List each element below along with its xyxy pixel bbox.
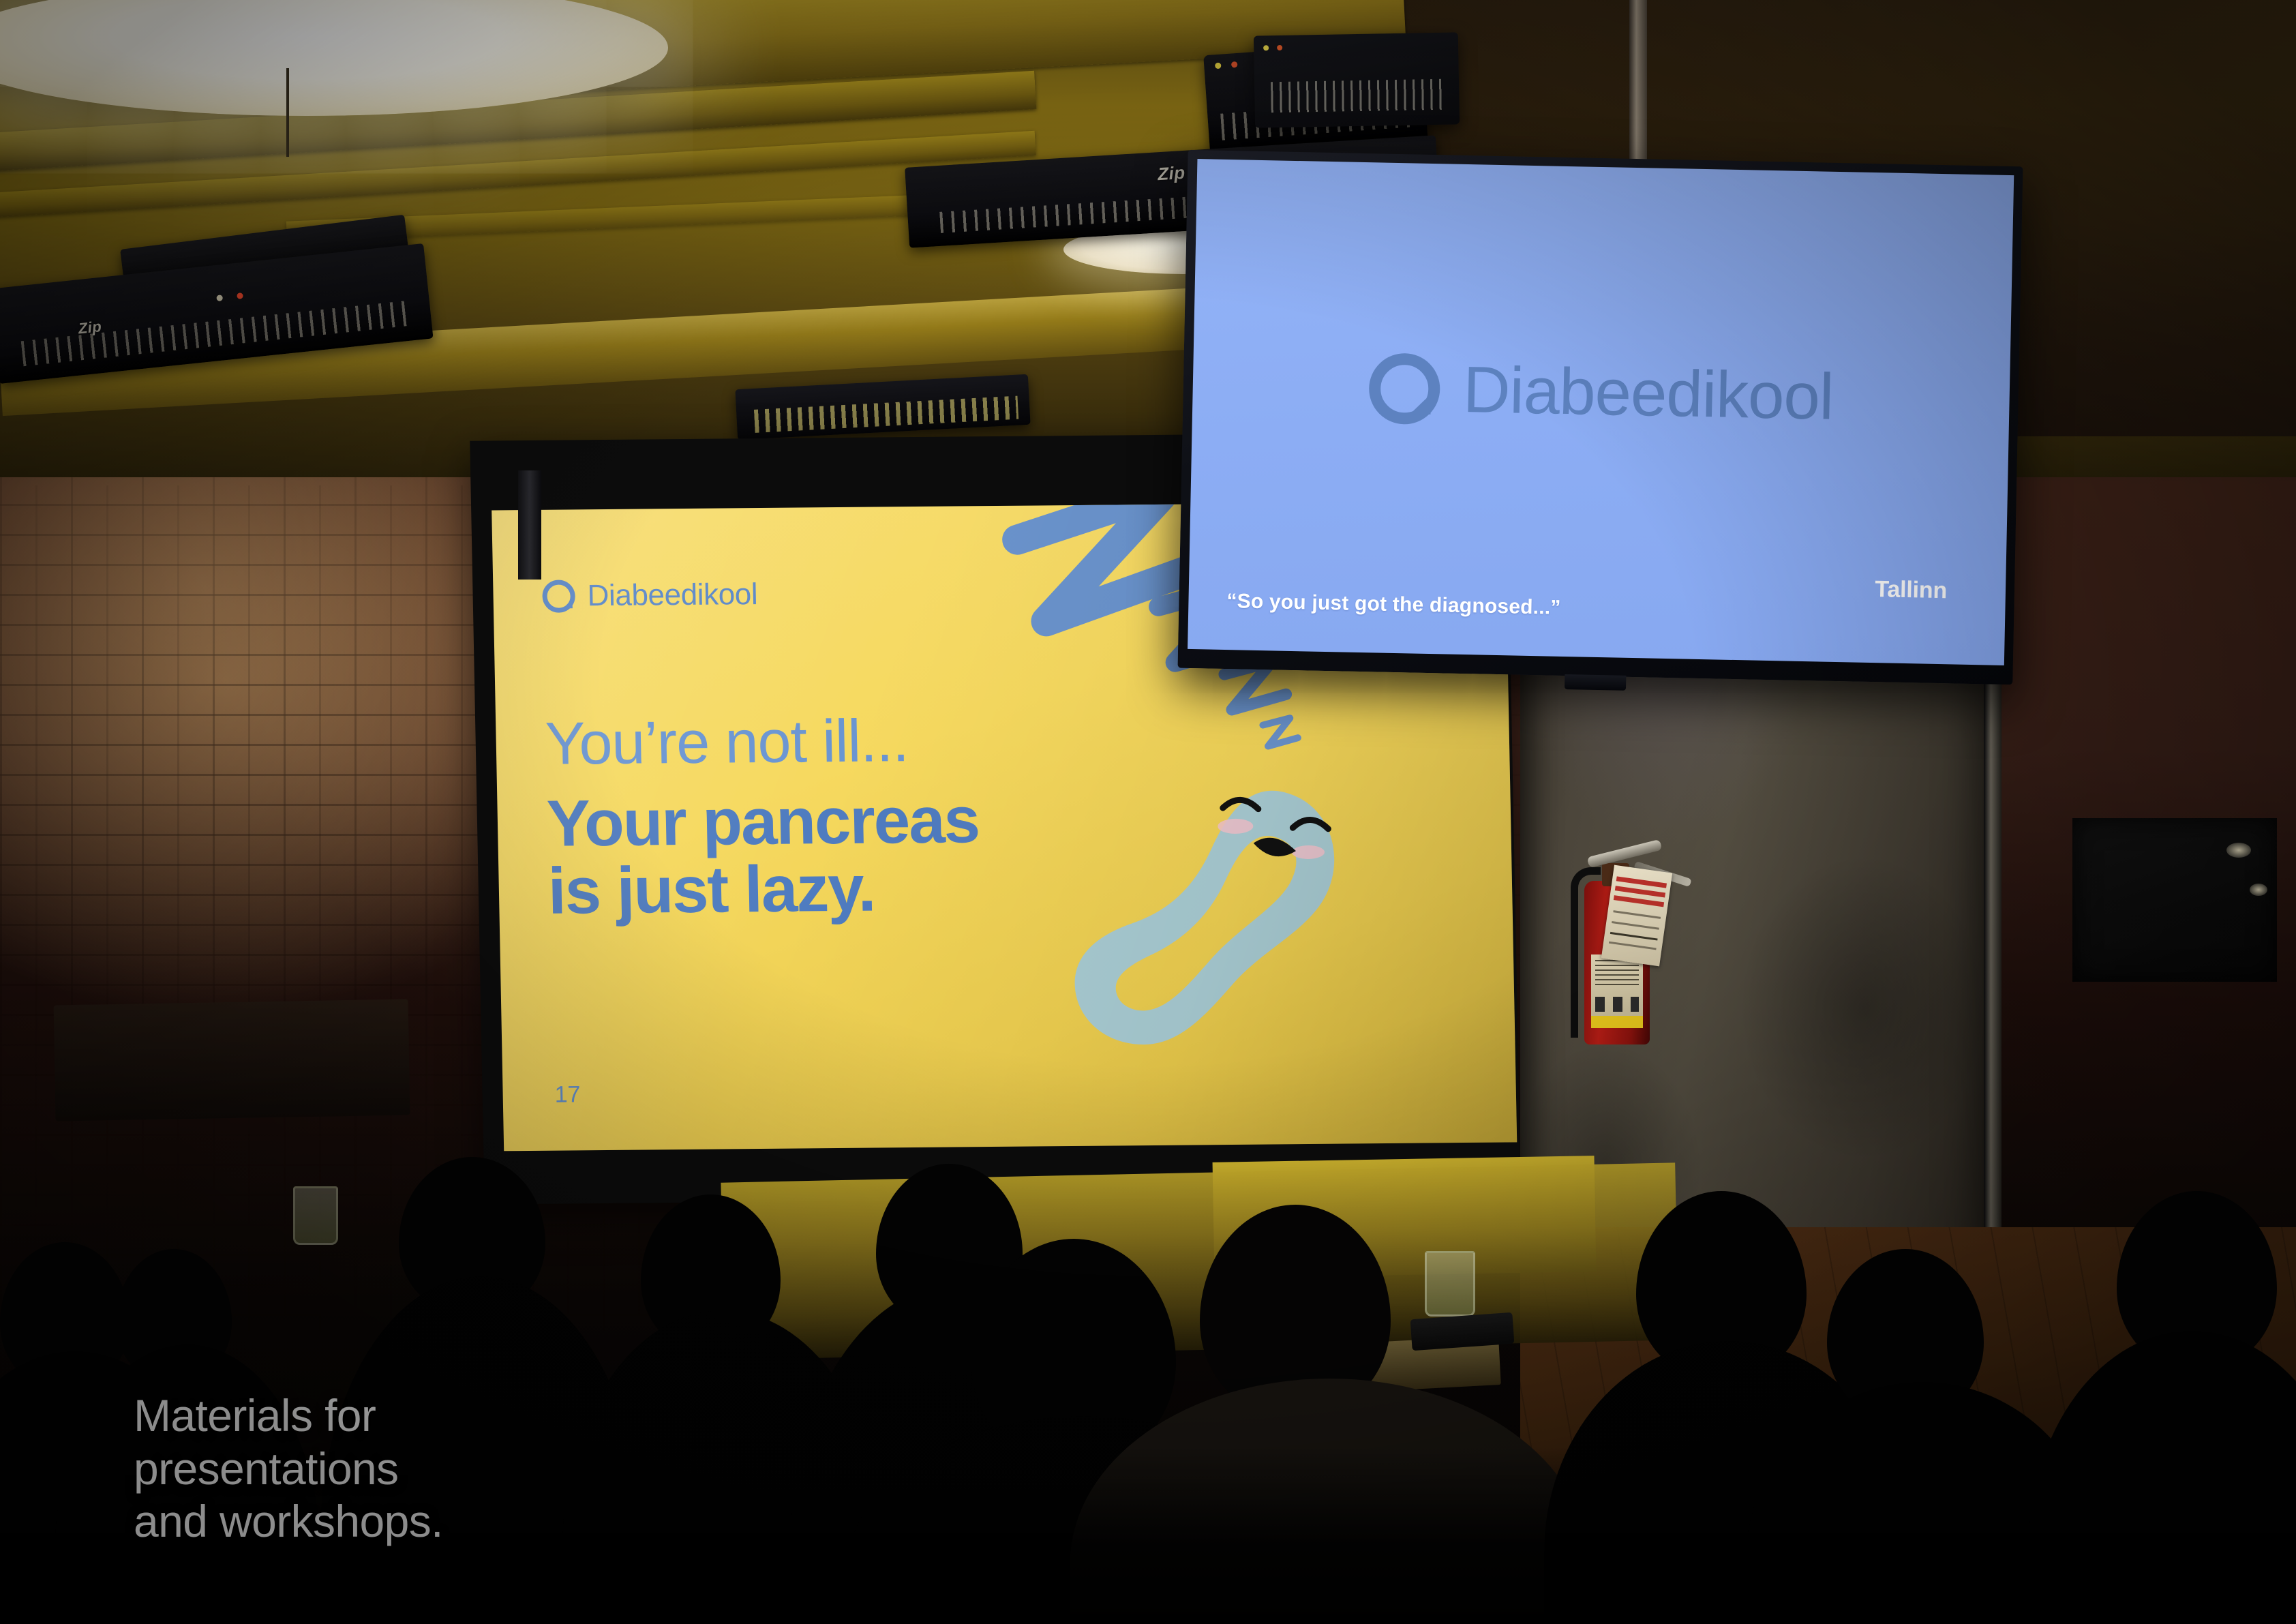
tv-wall-mount: [518, 470, 541, 580]
zip-brand-label: Zip: [1157, 162, 1185, 184]
tv-location-label: Tallinn: [1875, 576, 1947, 604]
pendant-lamp-rod: [286, 68, 289, 157]
drinking-glass: [293, 1186, 338, 1245]
extinguisher-label-text: [1595, 960, 1639, 987]
bench: [54, 999, 410, 1121]
extinguisher-label: [1591, 954, 1643, 1028]
extinguisher-inspection-tag: [1601, 865, 1672, 967]
presentation-room-photo: Zip Zip: [0, 0, 2296, 1624]
tv-screen: Diabeedikool “So you just got the diagno…: [1188, 159, 2014, 665]
speaker-highlight: [2226, 843, 2251, 858]
tv-brand-lockup: Diabeedikool: [1368, 350, 1834, 435]
diabeedikool-ring-logo-icon: [542, 580, 575, 612]
speaker-highlight: [2250, 884, 2267, 896]
fire-extinguisher: [1568, 825, 1684, 1050]
drinking-glass: [852, 1411, 900, 1474]
status-led: [1231, 61, 1238, 68]
slide-brand-lockup: Diabeedikool: [542, 577, 758, 614]
projector-lamp-led: [1277, 45, 1282, 50]
tv-quote-text: “So you just got the diagnosed...”: [1226, 590, 1561, 620]
wall-speaker: [2072, 818, 2277, 982]
sleeping-pancreas-mascot: [1035, 727, 1355, 1051]
extinguisher-yellow-band: [1591, 1016, 1643, 1028]
tv-brand-name: Diabeedikool: [1462, 352, 1834, 435]
status-led: [216, 295, 223, 301]
tv-bottom-foot: [1564, 674, 1625, 691]
diabeedikool-ring-logo-icon: [1368, 352, 1440, 425]
page-caption: Materials for presentations and workshop…: [134, 1389, 443, 1548]
wall-mounted-tv: Diabeedikool “So you just got the diagno…: [1177, 150, 2023, 685]
extinguisher-pictograms: [1595, 997, 1639, 1012]
drinking-glass: [1425, 1251, 1475, 1317]
status-led: [1215, 63, 1222, 70]
projector-vent: [1271, 78, 1443, 112]
wooden-table: [721, 1162, 1678, 1359]
ceiling-projector: [1254, 32, 1460, 127]
status-led: [237, 292, 243, 299]
projector-power-led: [1263, 45, 1269, 50]
slide-brand-name: Diabeedikool: [587, 577, 758, 613]
slide-page-number: 17: [554, 1081, 581, 1108]
